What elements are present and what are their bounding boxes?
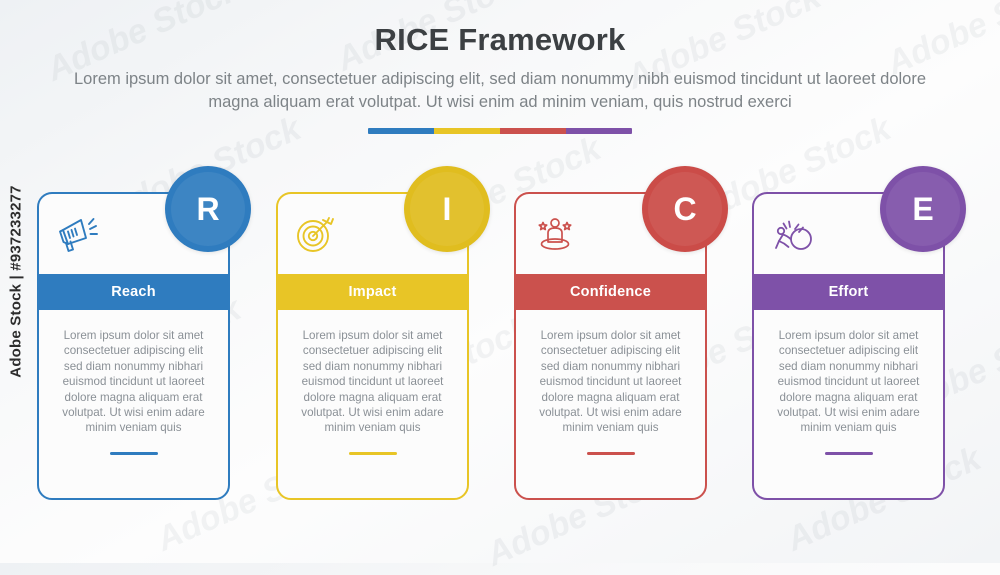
badge-letter-r[interactable]: R [165,166,251,252]
badge-letter-c[interactable]: C [642,166,728,252]
card-label-band: Confidence [516,274,705,310]
badge-letter-e[interactable]: E [880,166,966,252]
badge-letter: I [443,191,452,228]
badge-letter: E [912,191,933,228]
card-body-text: Lorem ipsum dolor sit amet consectetuer … [754,310,943,436]
card-label-band: Effort [754,274,943,310]
divider-segment-2 [434,128,500,134]
person-stars-icon [532,213,580,255]
adobe-stock-watermark: Adobe Stock | #937233277 [0,0,33,563]
card-label: Effort [829,284,869,300]
card-label: Confidence [570,284,651,300]
card-body-text: Lorem ipsum dolor sit amet consectetuer … [516,310,705,436]
card-label-band: Reach [39,274,228,310]
card-accent-underline [349,452,397,455]
page-subtitle: Lorem ipsum dolor sit amet, consectetuer… [72,68,928,114]
divider-segment-4 [566,128,632,134]
divider-segment-1 [368,128,434,134]
person-pushing-boulder-icon [770,212,816,256]
card-body-text: Lorem ipsum dolor sit amet consectetuer … [39,310,228,436]
card-accent-underline [587,452,635,455]
badge-letter-i[interactable]: I [404,166,490,252]
badge-letter: C [673,191,696,228]
card-label-band: Impact [278,274,467,310]
card-accent-underline [825,452,873,455]
badge-letter: R [196,191,219,228]
divider-segment-3 [500,128,566,134]
target-dartboard-icon [294,213,338,255]
card-body-text: Lorem ipsum dolor sit amet consectetuer … [278,310,467,436]
card-accent-underline [110,452,158,455]
megaphone-icon [55,213,101,255]
card-label: Reach [111,284,156,300]
watermark-text: Adobe Stock | #937233277 [8,185,25,377]
card-label: Impact [349,284,397,300]
color-divider-bar [368,128,632,134]
page-title: RICE Framework [0,22,1000,58]
infographic-canvas: Adobe Stock Adobe Stock Adobe Stock Adob… [0,0,1000,563]
